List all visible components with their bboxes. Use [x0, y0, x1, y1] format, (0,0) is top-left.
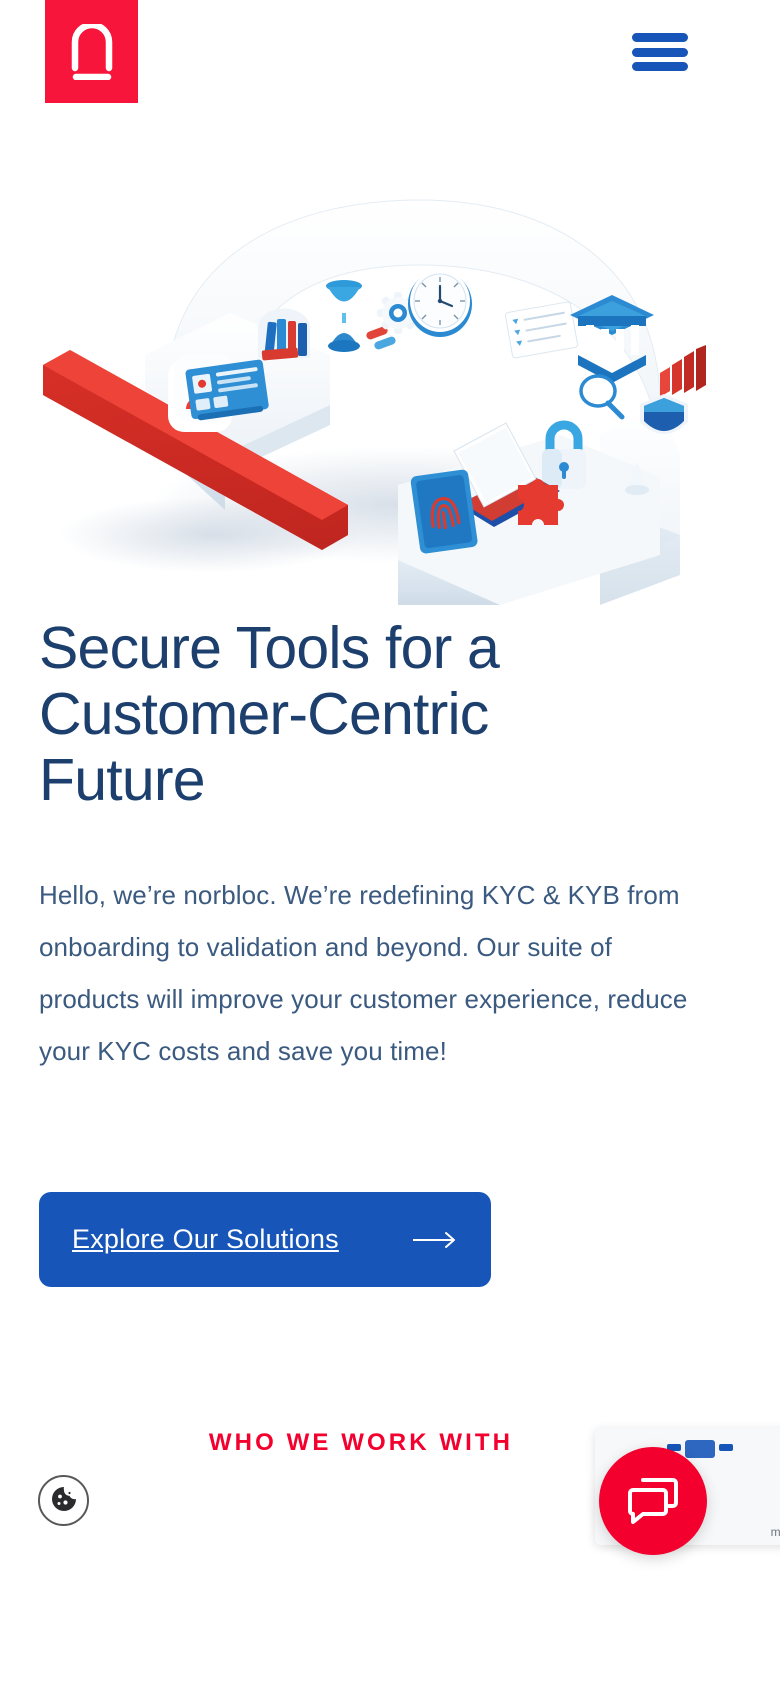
hero-section: Secure Tools for a Customer-Centric Futu…: [39, 615, 719, 1077]
hamburger-bar-1: [632, 33, 688, 42]
page-title: Secure Tools for a Customer-Centric Futu…: [39, 615, 639, 813]
hero-paragraph: Hello, we’re norbloc. We’re redefining K…: [39, 869, 699, 1077]
page-root: Secure Tools for a Customer-Centric Futu…: [0, 0, 780, 1688]
chat-card-caption: ms: [771, 1525, 780, 1539]
arrow-right-icon: [412, 1231, 458, 1249]
hamburger-bar-2: [632, 48, 688, 57]
cookie-settings-button[interactable]: [38, 1475, 89, 1526]
chat-bubbles-icon: [625, 1472, 681, 1531]
norbloc-logo[interactable]: [45, 0, 138, 103]
cta-label: Explore Our Solutions: [72, 1224, 339, 1255]
hamburger-bar-3: [632, 62, 688, 71]
cookie-icon: [49, 1484, 79, 1517]
hamburger-menu-icon[interactable]: [632, 30, 688, 74]
open-chat-button[interactable]: [599, 1447, 707, 1555]
hero-illustration: [0, 105, 780, 605]
explore-our-solutions-button[interactable]: Explore Our Solutions: [39, 1192, 491, 1287]
norbloc-arch-logo-icon: [69, 24, 115, 80]
site-header: [0, 0, 780, 105]
